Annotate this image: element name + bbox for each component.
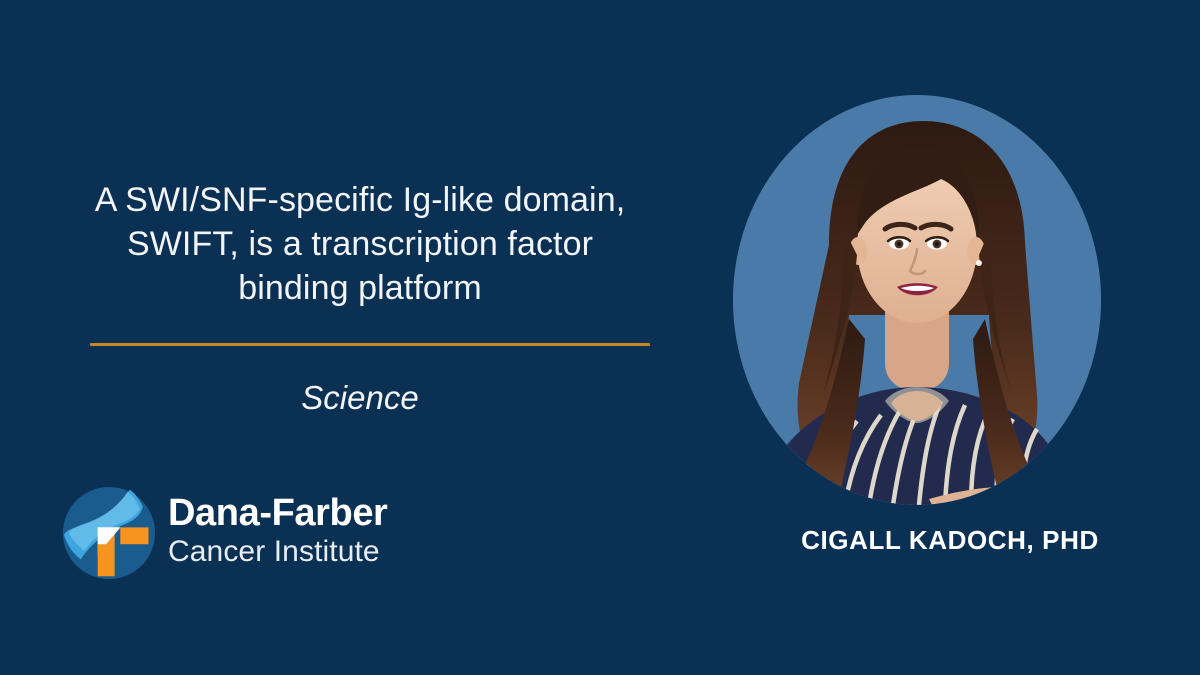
org-name: Dana-Farber [168, 492, 387, 534]
title-line-1: A SWI/SNF-specific Ig-like domain, [40, 178, 680, 222]
dana-farber-wordmark: Dana-Farber Cancer Institute [168, 492, 387, 570]
dana-farber-logo: Dana-Farber Cancer Institute [62, 486, 452, 582]
journal-name: Science [40, 378, 680, 418]
title-line-3: binding platform [40, 266, 680, 310]
title-line-2: SWIFT, is a transcription factor [40, 222, 680, 266]
right-content-panel: CIGALL KADOCH, PHD [720, 0, 1200, 675]
left-content-panel: A SWI/SNF-specific Ig-like domain, SWIFT… [0, 0, 720, 675]
accent-divider [90, 343, 650, 346]
publication-title: A SWI/SNF-specific Ig-like domain, SWIFT… [40, 178, 680, 310]
researcher-name: CIGALL KADOCH, PHD [720, 525, 1180, 556]
portrait-photo [733, 95, 1101, 505]
org-subtitle: Cancer Institute [168, 534, 387, 570]
dana-farber-circle-mark-icon [62, 486, 156, 580]
researcher-portrait [733, 95, 1101, 505]
